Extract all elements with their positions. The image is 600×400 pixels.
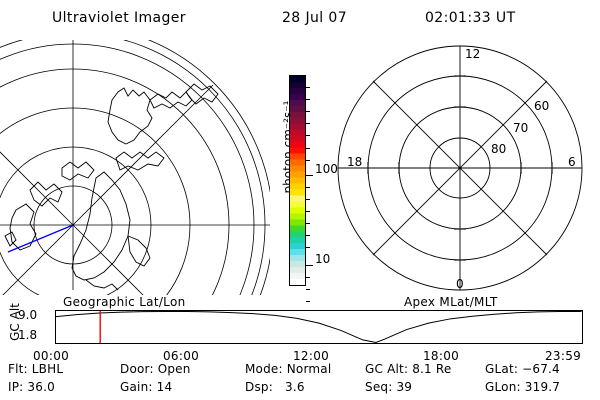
observation-date: 28 Jul 07 [282,10,347,26]
mlt-label-left: 18 [347,155,362,169]
latitude-circles [0,40,270,295]
mlat-label-60: 60 [534,99,549,113]
colorbar-minor-tick [306,199,310,200]
longitude-spokes [0,40,270,295]
footer-gcalt: GC Alt: 8.1 Re [365,362,451,376]
colorbar-minor-tick [306,87,310,88]
colorbar-minor-tick [306,223,310,224]
colorbar-gradient [289,75,306,286]
status-footer: Flt: LBHL Door: Open Mode: Normal GC Alt… [0,360,600,400]
geographic-map-panel[interactable] [0,40,270,295]
mlt-label-top: 12 [465,47,480,61]
instrument-title: Ultraviolet Imager [52,10,186,26]
footer-ip: IP: 36.0 [8,380,55,394]
footer-door: Door: Open [120,362,191,376]
mlt-label-bottom: 0 [456,277,464,291]
colorbar-minor-tick [306,187,310,188]
colorbar-minor-tick [306,277,310,278]
colorbar-minor-tick [306,160,310,161]
colorbar-minor-tick [306,289,310,290]
footer-flt: Flt: LBHL [8,362,63,376]
colorbar-minor-tick [306,135,310,136]
altitude-strip-chart[interactable]: GC Alt 9.0 1.8 00:00 06:00 12:00 18:00 2… [0,305,600,355]
colorbar-minor-tick [306,123,310,124]
colorbar-minor-tick [306,301,310,302]
spacecraft-track-line [8,225,73,252]
altitude-curve [56,312,582,343]
colorbar-minor-tick [306,211,310,212]
apex-dial-panel[interactable]: 12 6 0 18 60 70 80 [330,40,600,295]
footer-dsp: Dsp: 3.6 [245,380,305,394]
strip-chart-svg [56,311,582,343]
colorbar-tick-label-1: 10 [315,259,330,260]
header-bar: Ultraviolet Imager 28 Jul 07 02:01:33 UT [0,6,600,28]
footer-glat: GLat: −67.4 [485,362,560,376]
strip-chart-plot-area[interactable] [55,310,583,344]
colorbar-minor-tick [306,99,310,100]
mlt-label-right: 6 [568,155,576,169]
colorbar-minor-tick [306,247,310,248]
mlat-label-70: 70 [513,121,528,135]
colorbar-major-tick [306,265,313,266]
footer-glon: GLon: 319.7 [485,380,560,394]
colorbar-major-tick [306,175,313,176]
observation-time: 02:01:33 UT [425,10,516,26]
mlt-spokes [338,46,582,290]
footer-mode: Mode: Normal [245,362,331,376]
footer-seq: Seq: 39 [365,380,412,394]
colorbar-legend: photon cm⁻²s⁻¹ 10010 [265,45,335,295]
apex-dial-svg: 12 6 0 18 60 70 80 [330,40,600,295]
colorbar-minor-tick [306,148,310,149]
colorbar-minor-tick [306,235,310,236]
colorbar-minor-tick [306,111,310,112]
mlat-label-80: 80 [491,142,506,156]
footer-gain: Gain: 14 [120,380,172,394]
geographic-map-svg [0,40,270,295]
